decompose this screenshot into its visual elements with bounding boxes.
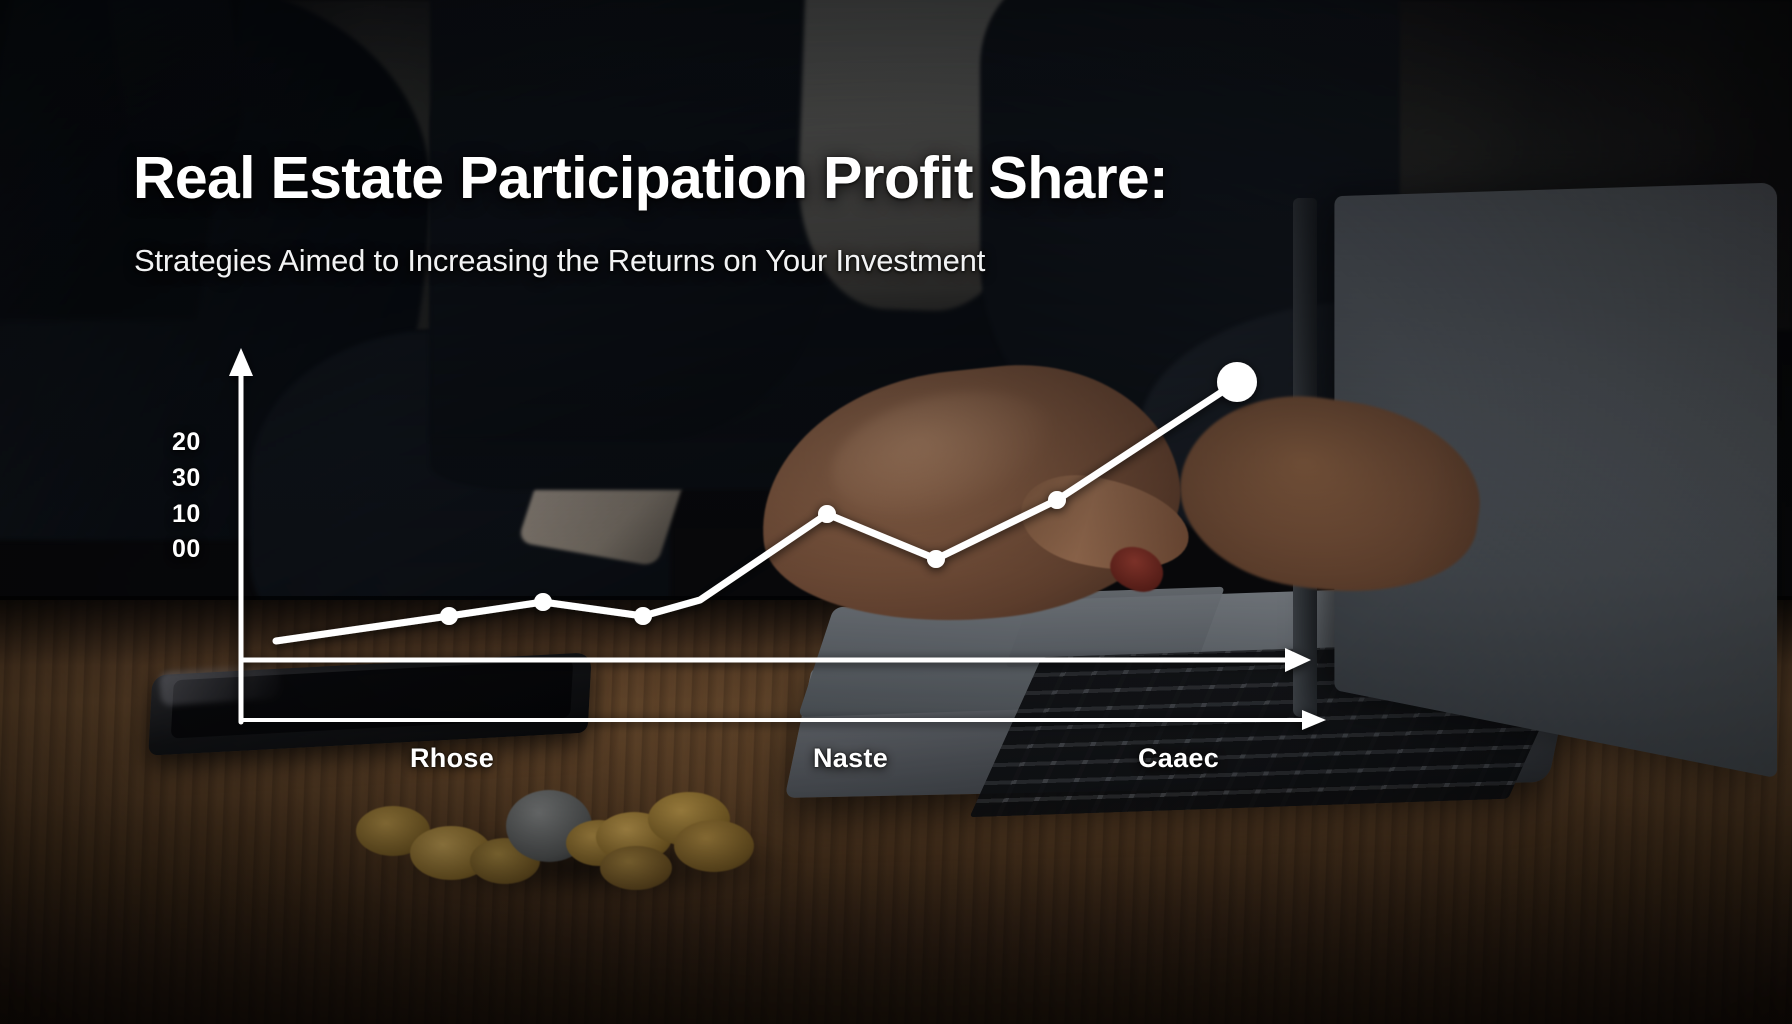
data-point-marker	[440, 607, 458, 625]
x-axis-tick-label: Caaec	[1138, 743, 1219, 774]
y-axis-tick-label: 00	[172, 535, 201, 564]
x-axis-lower-arrowhead	[1302, 710, 1326, 730]
x-axis-tick-label: Rhose	[410, 743, 494, 774]
data-point-marker	[1217, 362, 1257, 402]
series-line	[276, 382, 1237, 641]
x-axis-tick-label: Naste	[813, 743, 888, 774]
y-axis-tick-label: 20	[172, 428, 201, 457]
x-axis-upper-arrowhead	[1285, 648, 1311, 672]
chart-geometry	[229, 348, 1326, 730]
y-axis-tick-label: 30	[172, 464, 201, 493]
data-point-marker	[1048, 491, 1066, 509]
data-point-marker	[927, 550, 945, 568]
data-point-marker	[818, 505, 836, 523]
y-axis-tick-label: 10	[172, 500, 201, 529]
overlay-layer: Real Estate Participation Profit Share: …	[0, 0, 1792, 1024]
data-point-marker	[634, 607, 652, 625]
data-point-marker	[534, 593, 552, 611]
line-chart	[0, 0, 1792, 1024]
y-axis-arrowhead	[229, 348, 253, 376]
